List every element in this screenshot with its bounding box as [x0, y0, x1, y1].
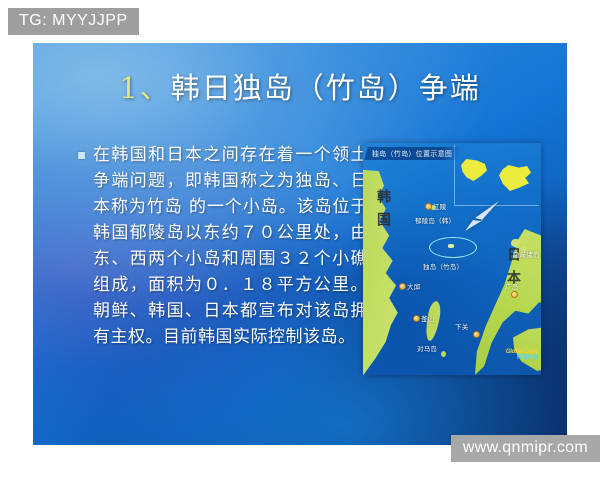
city-label-hiroshima: 广岛 [505, 281, 518, 291]
dokdo-highlight-ellipse [429, 237, 477, 258]
body-bullet-block: 在韩国和日本之间存在着一个领土争端问题，即韩国称之为独岛、日本称为竹岛 的一个小… [78, 142, 368, 350]
city-dot-busan [413, 315, 420, 322]
map-label-dokdo: 独岛（竹岛） [423, 261, 463, 271]
dokdo-west-islet [461, 159, 487, 181]
city-label-gangneung: 江陵 [433, 201, 446, 211]
map-label-oki: 隐岐诸岛 [513, 249, 540, 259]
city-dot-daegu [399, 283, 406, 290]
map-title-text: 独岛（竹岛）位置示意图 [372, 149, 452, 159]
city-dot-shimonoseki [473, 331, 480, 338]
callout-arrow-icon [455, 201, 499, 231]
title-text: 韩日独岛（竹岛）争端 [171, 71, 481, 105]
square-bullet-icon [78, 152, 85, 159]
title-number: 1、 [119, 71, 170, 105]
dokdo-inset-box [454, 145, 539, 206]
page-title: 1、韩日独岛（竹岛）争端 [33, 65, 567, 107]
city-dot-hiroshima [511, 291, 518, 298]
watermark-top-left: TG: MYYJJPP [8, 8, 139, 35]
dokdo-east-islet [499, 165, 531, 191]
map-label-tsushima: 对马岛 [417, 343, 437, 353]
city-label-shimonoseki: 下关 [455, 321, 468, 331]
city-label-busan: 釜山 [421, 313, 434, 323]
city-dot-gangneung [425, 203, 432, 210]
map-source-logo: Global Daily 环球时报 [506, 349, 538, 361]
presentation-slide: 1、韩日独岛（竹岛）争端 在韩国和日本之间存在着一个领土争端问题，即韩国称之为独… [33, 43, 567, 445]
map-label-ulleungdo: 郁陵岛（韩） [415, 215, 455, 225]
watermark-bottom-right: www.qnmipr.com [451, 435, 600, 462]
dokdo-marker [448, 244, 454, 248]
small-islet [441, 351, 446, 357]
city-label-daegu: 大邱 [407, 281, 420, 291]
map-label-korea: 韩国 [373, 189, 393, 235]
logo-line-2: 环球时报 [506, 355, 538, 361]
map-title-banner: 独岛（竹岛）位置示意图 [364, 147, 462, 160]
body-paragraph: 在韩国和日本之间存在着一个领土争端问题，即韩国称之为独岛、日本称为竹岛 的一个小… [93, 142, 368, 350]
map-image: 独岛（竹岛）位置示意图 韩国 日本 郁陵岛（韩） 独岛（竹岛） 隐岐诸岛 对马岛… [363, 143, 541, 375]
